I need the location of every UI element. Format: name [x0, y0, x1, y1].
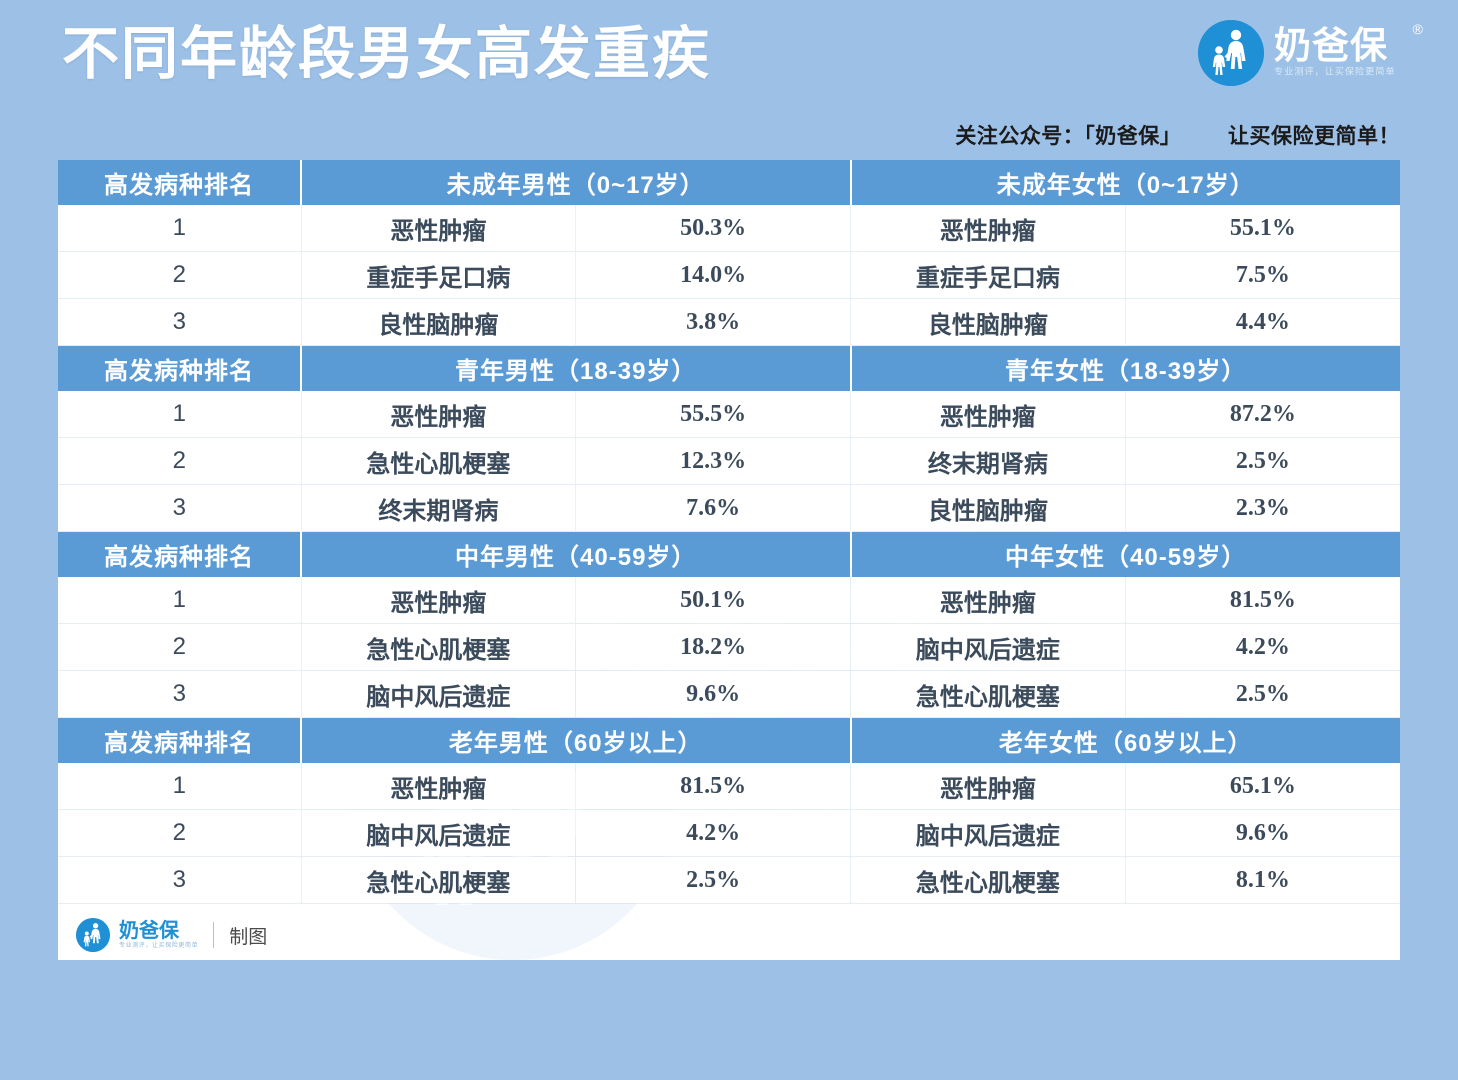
female-group-header: 青年女性（18-39岁）: [851, 346, 1401, 392]
female-percentage: 4.4%: [1125, 299, 1400, 346]
male-percentage: 18.2%: [576, 624, 851, 671]
credit-brand-name: 奶爸保: [119, 920, 198, 942]
follow-note-prefix: 关注公众号：「奶爸保」: [955, 125, 1181, 148]
rank-cell: 2: [58, 438, 301, 485]
female-percentage: 4.2%: [1125, 624, 1400, 671]
rank-column-header: 高发病种排名: [58, 532, 301, 578]
male-group-header: 中年男性（40-59岁）: [301, 532, 851, 578]
female-disease-name: 恶性肿瘤: [851, 391, 1126, 438]
male-percentage: 50.1%: [576, 577, 851, 624]
male-disease-name: 脑中风后遗症: [301, 810, 576, 857]
female-percentage: 2.5%: [1125, 438, 1400, 485]
male-disease-name: 终末期肾病: [301, 485, 576, 532]
male-percentage: 14.0%: [576, 252, 851, 299]
male-percentage: 2.5%: [576, 857, 851, 904]
male-percentage: 7.6%: [576, 485, 851, 532]
table-row: 3脑中风后遗症9.6%急性心肌梗塞2.5%: [58, 671, 1400, 718]
male-percentage: 4.2%: [576, 810, 851, 857]
table-row: 2急性心肌梗塞18.2%脑中风后遗症4.2%: [58, 624, 1400, 671]
page-header: 不同年龄段男女高发重疾 奶爸保 ® 专业测评，让买保险更简单 关注公众号：「奶爸…: [0, 0, 1458, 160]
female-disease-name: 恶性肿瘤: [851, 763, 1126, 810]
rank-cell: 3: [58, 299, 301, 346]
table-row: 2脑中风后遗症4.2%脑中风后遗症9.6%: [58, 810, 1400, 857]
female-percentage: 2.3%: [1125, 485, 1400, 532]
male-percentage: 3.8%: [576, 299, 851, 346]
rank-cell: 2: [58, 252, 301, 299]
female-percentage: 8.1%: [1125, 857, 1400, 904]
male-percentage: 81.5%: [576, 763, 851, 810]
female-percentage: 65.1%: [1125, 763, 1400, 810]
female-disease-name: 重症手足口病: [851, 252, 1126, 299]
male-group-header: 老年男性（60岁以上）: [301, 718, 851, 764]
rank-cell: 3: [58, 485, 301, 532]
male-disease-name: 恶性肿瘤: [301, 577, 576, 624]
male-percentage: 50.3%: [576, 205, 851, 252]
credit-wordmark: 奶爸保 专业测评，让买保险更简单: [119, 920, 198, 950]
female-disease-name: 终末期肾病: [851, 438, 1126, 485]
male-disease-name: 恶性肿瘤: [301, 391, 576, 438]
table-row: 3急性心肌梗塞2.5%急性心肌梗塞8.1%: [58, 857, 1400, 904]
male-disease-name: 恶性肿瘤: [301, 205, 576, 252]
table-row: 3良性脑肿瘤3.8%良性脑肿瘤4.4%: [58, 299, 1400, 346]
parent-child-circle-icon: [1198, 20, 1264, 86]
male-disease-name: 急性心肌梗塞: [301, 438, 576, 485]
brand-logo: 奶爸保 ® 专业测评，让买保险更简单: [1198, 20, 1406, 86]
table-row: 1恶性肿瘤81.5%恶性肿瘤65.1%: [58, 763, 1400, 810]
male-percentage: 12.3%: [576, 438, 851, 485]
rank-column-header: 高发病种排名: [58, 160, 301, 205]
section-header-row: 高发病种排名中年男性（40-59岁）中年女性（40-59岁）: [58, 532, 1400, 578]
female-percentage: 55.1%: [1125, 205, 1400, 252]
rank-cell: 3: [58, 857, 301, 904]
female-disease-name: 脑中风后遗症: [851, 810, 1126, 857]
credit-brand-tagline: 专业测评，让买保险更简单: [119, 942, 198, 950]
credit-label: 制图: [229, 922, 267, 949]
section-header-row: 高发病种排名青年男性（18-39岁）青年女性（18-39岁）: [58, 346, 1400, 392]
male-disease-name: 脑中风后遗症: [301, 671, 576, 718]
table-row: 3终末期肾病7.6%良性脑肿瘤2.3%: [58, 485, 1400, 532]
credit-divider: [213, 922, 214, 948]
male-percentage: 55.5%: [576, 391, 851, 438]
matrix-body: 高发病种排名未成年男性（0~17岁）未成年女性（0~17岁）1恶性肿瘤50.3%…: [58, 160, 1400, 904]
female-percentage: 2.5%: [1125, 671, 1400, 718]
female-disease-name: 良性脑肿瘤: [851, 485, 1126, 532]
disease-matrix-table: 高发病种排名未成年男性（0~17岁）未成年女性（0~17岁）1恶性肿瘤50.3%…: [58, 160, 1400, 904]
rank-column-header: 高发病种排名: [58, 718, 301, 764]
male-disease-name: 恶性肿瘤: [301, 763, 576, 810]
page-title: 不同年龄段男女高发重疾: [62, 18, 711, 90]
rank-cell: 2: [58, 624, 301, 671]
section-header-row: 高发病种排名未成年男性（0~17岁）未成年女性（0~17岁）: [58, 160, 1400, 205]
female-group-header: 未成年女性（0~17岁）: [851, 160, 1401, 205]
follow-note-suffix: 让买保险更简单！: [1228, 125, 1400, 148]
section-header-row: 高发病种排名老年男性（60岁以上）老年女性（60岁以上）: [58, 718, 1400, 764]
table-row: 1恶性肿瘤55.5%恶性肿瘤87.2%: [58, 391, 1400, 438]
brand-tagline: 专业测评，让买保险更简单: [1274, 66, 1395, 79]
rank-cell: 1: [58, 577, 301, 624]
parent-child-circle-icon: [76, 918, 110, 952]
brand-name: 奶爸保: [1274, 26, 1406, 66]
rank-cell: 1: [58, 763, 301, 810]
rank-cell: 1: [58, 391, 301, 438]
registered-mark-icon: ®: [1413, 22, 1423, 36]
female-group-header: 中年女性（40-59岁）: [851, 532, 1401, 578]
rank-cell: 2: [58, 810, 301, 857]
male-disease-name: 重症手足口病: [301, 252, 576, 299]
rank-cell: 1: [58, 205, 301, 252]
rank-column-header: 高发病种排名: [58, 346, 301, 392]
panel-footer: 奶爸保 专业测评，让买保险更简单 制图: [58, 904, 1400, 960]
female-disease-name: 脑中风后遗症: [851, 624, 1126, 671]
male-group-header: 青年男性（18-39岁）: [301, 346, 851, 392]
table-row: 1恶性肿瘤50.3%恶性肿瘤55.1%: [58, 205, 1400, 252]
male-disease-name: 急性心肌梗塞: [301, 624, 576, 671]
female-disease-name: 良性脑肿瘤: [851, 299, 1126, 346]
brand-wordmark: 奶爸保 ® 专业测评，让买保险更简单: [1274, 26, 1406, 80]
female-percentage: 87.2%: [1125, 391, 1400, 438]
female-disease-name: 恶性肿瘤: [851, 577, 1126, 624]
female-percentage: 7.5%: [1125, 252, 1400, 299]
male-group-header: 未成年男性（0~17岁）: [301, 160, 851, 205]
table-row: 1恶性肿瘤50.1%恶性肿瘤81.5%: [58, 577, 1400, 624]
female-disease-name: 恶性肿瘤: [851, 205, 1126, 252]
footer-credit: 奶爸保 专业测评，让买保险更简单 制图: [76, 918, 267, 952]
rank-cell: 3: [58, 671, 301, 718]
female-percentage: 81.5%: [1125, 577, 1400, 624]
male-percentage: 9.6%: [576, 671, 851, 718]
table-row: 2急性心肌梗塞12.3%终末期肾病2.5%: [58, 438, 1400, 485]
female-disease-name: 急性心肌梗塞: [851, 857, 1126, 904]
female-disease-name: 急性心肌梗塞: [851, 671, 1126, 718]
female-group-header: 老年女性（60岁以上）: [851, 718, 1401, 764]
male-disease-name: 良性脑肿瘤: [301, 299, 576, 346]
male-disease-name: 急性心肌梗塞: [301, 857, 576, 904]
table-row: 2重症手足口病14.0%重症手足口病7.5%: [58, 252, 1400, 299]
female-percentage: 9.6%: [1125, 810, 1400, 857]
follow-official-account-note: 关注公众号：「奶爸保」 让买保险更简单！: [955, 120, 1400, 150]
disease-matrix-panel: 奶爸保 专业测评，让买保险更简单 高发病种排名未成年男性（0~17岁）未成年女性…: [58, 160, 1400, 960]
